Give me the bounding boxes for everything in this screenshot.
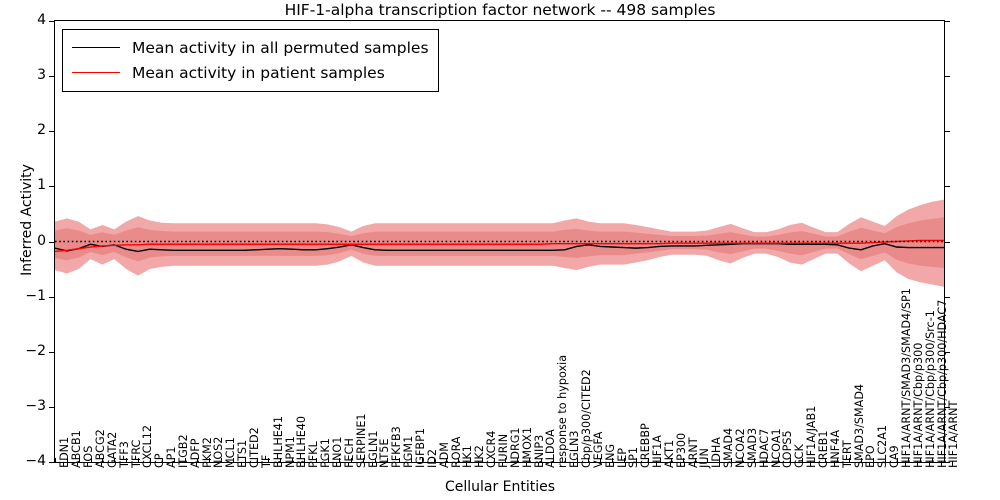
x-tick-label: HIF1A/ARNT/Cbp/p300 [913,343,924,468]
x-tick-label: Cbp/p300/CITED2 [581,369,592,468]
y-tick-mark [945,352,950,353]
y-axis-label: Inferred Activity [19,0,35,440]
y-tick-mark [945,297,950,298]
y-tick-mark [945,21,950,22]
x-tick-label: FOS [83,446,94,468]
x-tick-label: ADM [439,442,450,468]
legend-item: Mean activity in patient samples [72,60,429,85]
y-tick-mark [49,76,54,77]
x-tick-label: HIF1A/ARNT/Cbp/p300/Src-1 [925,310,936,468]
y-tick-label: 2 [0,122,46,138]
legend-label: Mean activity in all permuted samples [132,39,429,57]
legend-label: Mean activity in patient samples [132,64,385,82]
y-tick-mark [49,186,54,187]
x-tick-label: GATA2 [107,432,118,468]
x-tick-label: AP1 [166,446,177,468]
x-tick-label: HK2 [474,445,485,468]
x-tick-label: BHLHE41 [273,416,284,468]
x-tick-label: PFKL [308,441,319,468]
x-tick-label: PGK1 [320,438,331,468]
x-tick-label: ADFP [190,439,201,468]
figure: HIF-1-alpha transcription factor network… [0,0,1000,500]
x-tick-label: HK1 [462,445,473,468]
y-tick-mark [945,131,950,132]
x-tick-label: ID2 [427,449,438,468]
y-tick-mark [945,76,950,77]
y-tick-mark [945,462,950,463]
y-tick-mark [49,407,54,408]
x-tick-label: TF [261,455,272,468]
x-tick-label: ETS1 [237,440,248,468]
chart-title: HIF-1-alpha transcription factor network… [0,1,1000,19]
x-tick-label: MCL1 [225,437,236,468]
x-tick-label: HIF1A [652,435,663,468]
x-tick-label: CXCL12 [142,425,153,468]
x-tick-label: CA9 [889,445,900,468]
x-tick-label: ENO1 [332,437,343,468]
x-tick-label: CP [154,453,165,468]
y-tick-label: −4 [0,453,46,469]
x-tick-label: HIF1A/ARNT/SMAD3/SMAD4/SP1 [901,288,912,468]
x-tick-label: FECH [344,438,355,468]
x-tick-label: ABCB1 [71,430,82,468]
x-tick-label: PFKFB3 [391,426,402,468]
x-tick-label: ENG [605,444,616,468]
x-tick-label: AKT1 [664,440,675,468]
x-tick-label: GCK [794,444,805,468]
x-tick-label: HIF1A/JAB1 [806,406,817,468]
x-tick-label: CXCR4 [486,431,497,468]
x-tick-label: SMAD3 [747,428,758,468]
x-tick-label: HMOX1 [522,427,533,468]
y-tick-mark [945,242,950,243]
y-tick-mark [49,21,54,22]
x-tick-label: ITGB2 [178,434,189,468]
y-tick-mark [49,462,54,463]
y-tick-mark [49,242,54,243]
x-tick-label: EDN1 [59,437,70,468]
x-tick-label: IGFBP1 [415,428,426,468]
y-tick-label: 3 [0,67,46,83]
x-tick-label: ABCG2 [95,429,106,468]
x-tick-label: BHLHE40 [296,416,307,468]
x-tick-label: EPO [865,445,876,468]
x-tick-label: HDAC7 [759,429,770,468]
x-tick-label: NCOA2 [735,428,746,468]
y-tick-label: −2 [0,343,46,359]
x-tick-label: response to hypoxia [557,355,568,468]
legend-swatch [72,72,120,73]
y-tick-mark [49,131,54,132]
x-tick-label: CREB1 [818,431,829,468]
x-tick-label: HIF1A/ARNT [948,401,959,468]
y-tick-label: −1 [0,288,46,304]
x-tick-label: HNF4A [830,430,841,468]
x-axis-label: Cellular Entities [0,479,1000,495]
x-tick-label: TFF3 [119,441,130,468]
y-tick-mark [49,297,54,298]
x-tick-label: PGM1 [403,436,414,468]
x-tick-label: SERPINE1 [356,413,367,468]
legend-swatch [72,47,120,48]
x-tick-label: ALDOA [545,429,556,468]
x-tick-label: EGLN3 [569,431,580,468]
x-tick-label: LDHA [711,437,722,468]
legend-item: Mean activity in all permuted samples [72,35,429,60]
y-tick-mark [945,186,950,187]
x-tick-label: FURIN [498,434,509,468]
x-tick-label: NOS2 [213,437,224,468]
x-tick-label: VEGFA [593,432,604,468]
y-tick-label: −3 [0,398,46,414]
x-tick-label: CREBBP [640,423,651,468]
legend: Mean activity in all permuted samplesMea… [62,29,439,92]
x-tick-label: EP300 [676,433,687,468]
x-tick-label: SP1 [628,447,639,468]
x-tick-label: SLC2A1 [877,425,888,468]
x-tick-label: COPS5 [782,430,793,468]
x-tick-label: NT5E [379,439,390,468]
x-tick-label: NDRG1 [510,427,521,468]
x-tick-label: SMAD4 [723,428,734,468]
y-tick-label: 4 [0,12,46,28]
x-tick-mark [55,458,56,463]
x-tick-label: TERT [842,440,853,468]
y-tick-mark [945,407,950,408]
x-tick-label: CITED2 [249,427,260,468]
x-tick-label: JUN [699,448,710,468]
y-tick-mark [49,352,54,353]
y-tick-label: 0 [0,233,46,249]
y-tick-label: 1 [0,177,46,193]
